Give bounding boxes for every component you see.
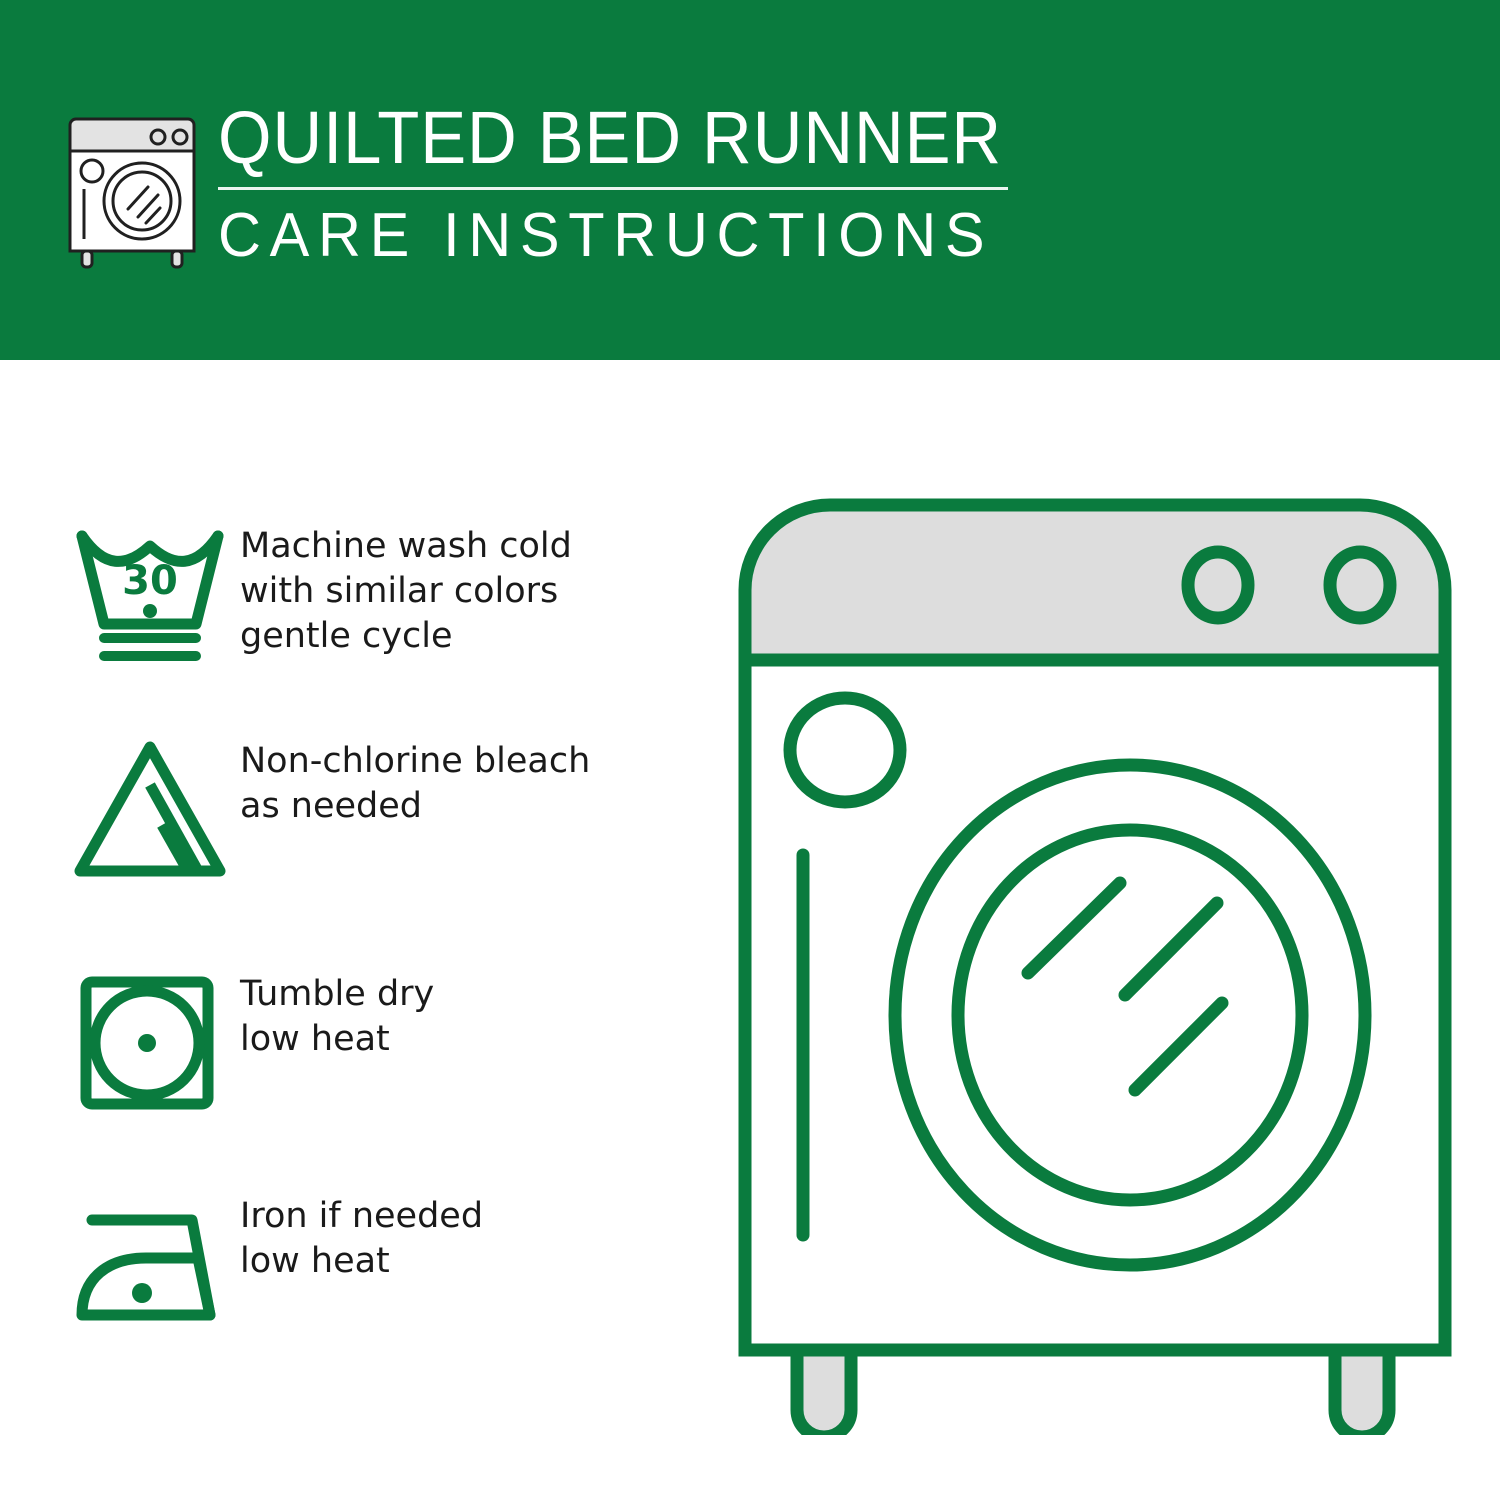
care-instruction-list: 30 Machine wash cold with similar colors…: [0, 360, 700, 1500]
header-band: QUILTED BED RUNNER CARE INSTRUCTIONS: [0, 0, 1500, 360]
page-title: QUILTED BED RUNNER: [218, 98, 962, 178]
care-item-label: Tumble dry low heat: [240, 968, 434, 1062]
care-item-label: Iron if needed low heat: [240, 1190, 483, 1284]
header-text-block: QUILTED BED RUNNER CARE INSTRUCTIONS: [218, 98, 1018, 270]
header-divider: [218, 187, 1008, 190]
non-chlorine-bleach-symbol: [70, 735, 240, 885]
knob-left: [1188, 552, 1248, 618]
care-item-bleach: Non-chlorine bleach as needed: [70, 735, 690, 885]
wash-temperature-label: 30: [122, 558, 178, 604]
knob-right: [1330, 552, 1390, 618]
washing-machine-icon: [62, 105, 202, 270]
care-item-label: Machine wash cold with similar colors ge…: [240, 520, 572, 659]
page-subtitle: CARE INSTRUCTIONS: [218, 202, 986, 270]
care-item-iron: Iron if needed low heat: [70, 1190, 690, 1340]
detergent-drawer-circle: [790, 698, 900, 802]
foot-left: [797, 1350, 851, 1435]
care-item-wash: 30 Machine wash cold with similar colors…: [70, 520, 690, 670]
drum-inner-ring: [958, 830, 1302, 1200]
care-item-dry: Tumble dry low heat: [70, 968, 690, 1118]
iron-low-heat-symbol: [70, 1190, 240, 1340]
care-item-label: Non-chlorine bleach as needed: [240, 735, 590, 829]
foot-right: [1335, 1350, 1389, 1435]
tumble-dry-low-symbol: [70, 968, 240, 1118]
machine-wash-30-gentle-symbol: 30: [70, 520, 240, 670]
front-load-washing-machine-illustration: [735, 495, 1455, 1435]
